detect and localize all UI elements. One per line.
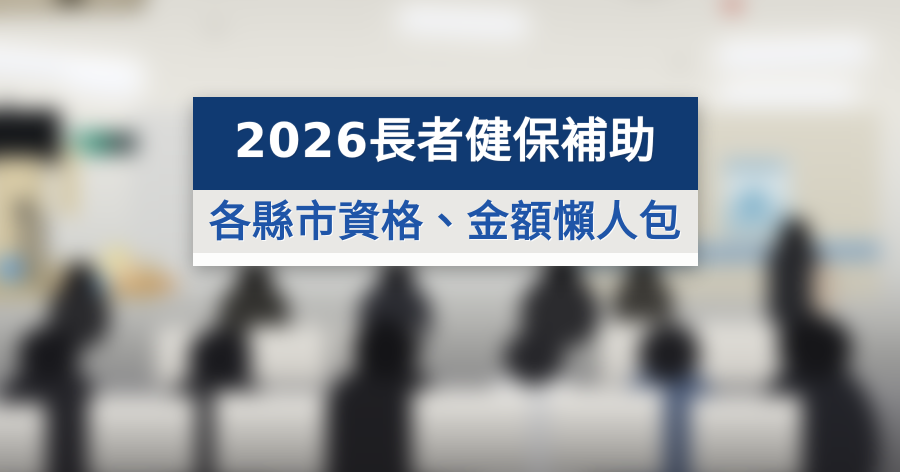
title-banner: 2026長者健保補助 各縣市資格、金額懶人包 xyxy=(193,97,698,266)
screenshot-root: 2026長者健保補助 各縣市資格、金額懶人包 xyxy=(0,0,900,472)
banner-headline: 2026長者健保補助 xyxy=(193,97,698,190)
person-head xyxy=(64,262,96,292)
ceiling-light-icon xyxy=(722,89,852,103)
person-head xyxy=(504,330,564,386)
bottom-vignette xyxy=(0,392,900,472)
banner-footer-strip xyxy=(193,253,698,266)
person-head xyxy=(780,218,810,248)
iv-stand-pole xyxy=(38,212,44,288)
person-head xyxy=(638,324,700,382)
waiting-chair xyxy=(248,326,328,384)
person-head xyxy=(782,316,852,380)
wall-column xyxy=(60,146,78,216)
person-head xyxy=(188,328,252,386)
counter-item xyxy=(0,258,22,280)
wall-poster-band xyxy=(726,164,782,171)
ceiling-fixture-shadow xyxy=(675,60,685,70)
wall-monitor-icon xyxy=(0,110,60,162)
person-head xyxy=(18,326,80,382)
banner-subheadline: 各縣市資格、金額懶人包 xyxy=(193,200,698,244)
ceiling-fixture-shadow xyxy=(208,24,222,34)
person-head xyxy=(352,318,420,380)
waiting-chair xyxy=(694,322,778,384)
counter-item xyxy=(118,260,136,284)
person-arm xyxy=(812,260,834,312)
banner-subtitle-container: 各縣市資格、金額懶人包 xyxy=(193,190,698,253)
